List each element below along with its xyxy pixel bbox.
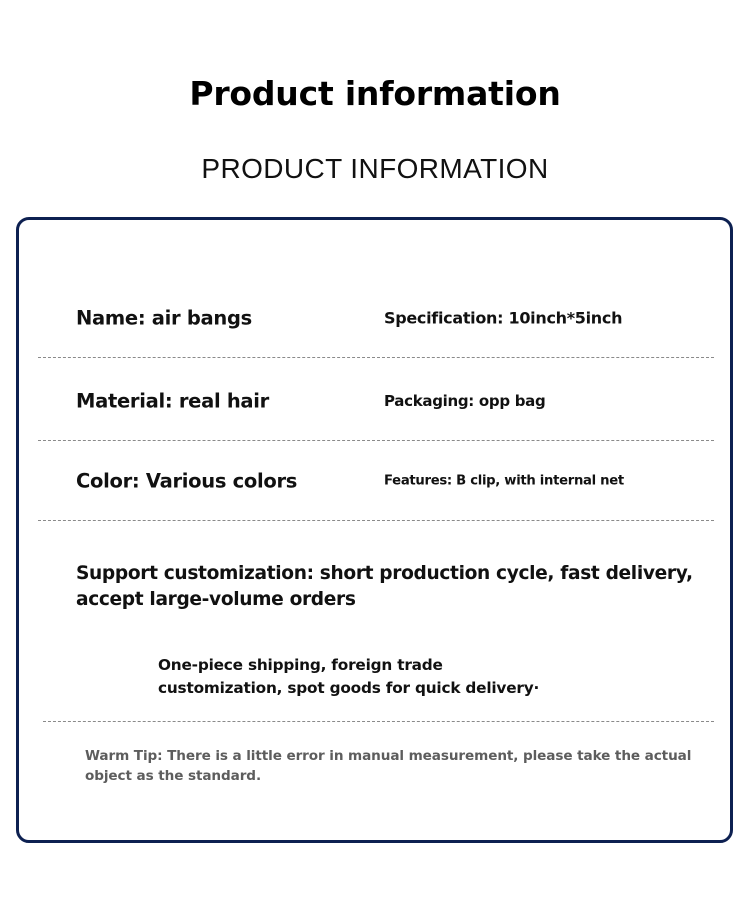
spec-features-label: Features: B clip, with internal net: [384, 474, 624, 489]
customization-subtext: One-piece shipping, foreign trade custom…: [158, 654, 628, 699]
row-divider: [38, 357, 714, 358]
customization-subtext-line-1: One-piece shipping, foreign trade: [158, 654, 628, 677]
spec-specification-label: Specification: 10inch*5inch: [384, 309, 622, 328]
row-divider: [38, 520, 714, 521]
page-title: Product information: [0, 74, 750, 114]
warm-tip-divider: [43, 721, 714, 722]
row-divider: [38, 440, 714, 441]
customization-subtext-line-2: customization, spot goods for quick deli…: [158, 677, 628, 700]
product-info-card-body: Name: air bangs Specification: 10inch*5i…: [19, 220, 730, 840]
customization-heading: Support customization: short production …: [76, 561, 696, 614]
spec-color-label: Color: Various colors: [76, 470, 297, 493]
warm-tip-text: Warm Tip: There is a little error in man…: [85, 746, 695, 787]
product-information-page: Product information PRODUCT INFORMATION …: [0, 0, 750, 900]
spec-packaging-label: Packaging: opp bag: [384, 392, 545, 410]
spec-material-label: Material: real hair: [76, 390, 269, 413]
page-subtitle: PRODUCT INFORMATION: [0, 152, 750, 186]
spec-name-label: Name: air bangs: [76, 307, 252, 330]
product-info-card: Name: air bangs Specification: 10inch*5i…: [16, 217, 733, 843]
